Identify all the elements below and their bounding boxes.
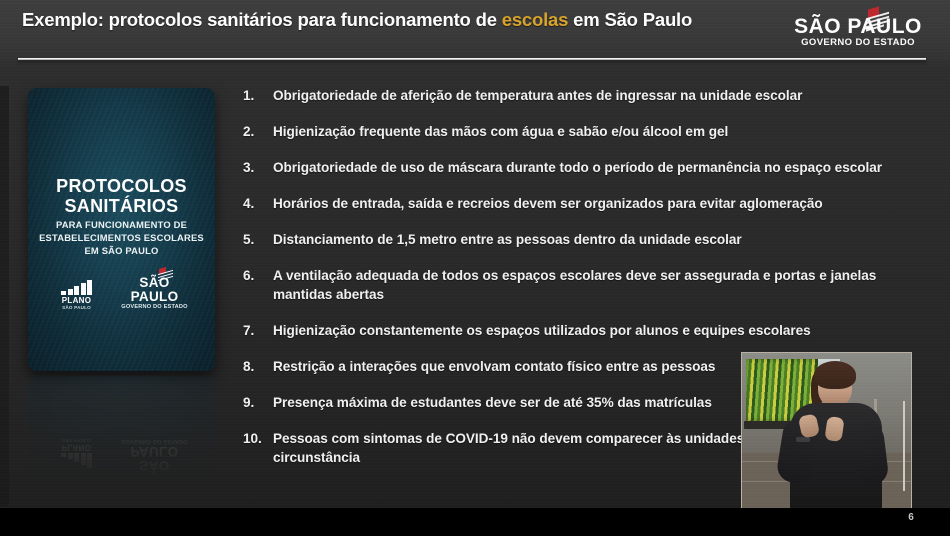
cover-gov-logo-subtitle: GOVERNO DO ESTADO <box>117 304 193 310</box>
page-title: Exemplo: protocolos sanitários para func… <box>22 8 712 31</box>
bar-chart-icon <box>51 453 103 468</box>
cover-title-line-2: SANITÁRIOS <box>28 196 215 216</box>
list-item-number: 9. <box>243 393 273 412</box>
list-item-number: 10. <box>243 429 273 448</box>
cover-reflection-logos: PLANO SÃO PAULO SÃO PAULO GOVERNO DO EST… <box>28 438 215 472</box>
slide-screenshot: Exemplo: protocolos sanitários para func… <box>0 0 950 536</box>
reflection-plano-name: PLANO <box>51 443 103 452</box>
interpreter-hair <box>814 361 856 389</box>
sign-language-interpreter-video[interactable] <box>741 352 912 511</box>
cover-government-logo: SÃO PAULO GOVERNO DO ESTADO <box>117 276 193 310</box>
logo-name: SÃO PAULO <box>788 16 928 37</box>
list-item-text: Obrigatoriedade de uso de máscara durant… <box>273 158 909 177</box>
list-item: 2. Higienização frequente das mãos com á… <box>243 122 913 141</box>
list-item: 1. Obrigatoriedade de aferição de temper… <box>243 86 913 105</box>
list-item-number: 5. <box>243 230 273 249</box>
header-divider <box>18 58 926 60</box>
page-title-part-1: Exemplo: protocolos sanitários para func… <box>22 9 502 30</box>
cover-gov-logo-name: SÃO PAULO <box>117 276 193 304</box>
list-item-number: 1. <box>243 86 273 105</box>
list-item-number: 4. <box>243 194 273 213</box>
list-item-text: Higienização frequente das mãos com água… <box>273 122 909 141</box>
cover-card: PROTOCOLOS SANITÁRIOS PARA FUNCIONAMENTO… <box>28 88 215 371</box>
plano-logo-subtitle: SÃO PAULO <box>51 305 103 310</box>
list-item-text: A ventilação adequada de todos os espaço… <box>273 266 909 304</box>
page-title-highlight: escolas <box>502 9 569 30</box>
page-title-part-2: em São Paulo <box>568 9 692 30</box>
list-item: 6. A ventilação adequada de todos os esp… <box>243 266 913 304</box>
rail-decor <box>903 401 905 491</box>
bar-chart-icon <box>51 280 103 295</box>
cover-subtitle: PARA FUNCIONAMENTO DE ESTABELECIMENTOS E… <box>34 218 209 257</box>
list-item-number: 3. <box>243 158 273 177</box>
list-item: 7. Higienização constantemente os espaço… <box>243 321 913 340</box>
list-item: 3. Obrigatoriedade de uso de máscara dur… <box>243 158 913 177</box>
list-item-text: Obrigatoriedade de aferição de temperatu… <box>273 86 909 105</box>
interpreter-wristwatch <box>796 437 810 442</box>
slide-header: Exemplo: protocolos sanitários para func… <box>0 0 950 60</box>
list-item: 4. Horários de entrada, saída e recreios… <box>243 194 913 213</box>
cover-title: PROTOCOLOS SANITÁRIOS <box>28 176 215 216</box>
bottom-bar <box>0 508 950 536</box>
reflection-gov-name: SÃO PAULO <box>117 444 193 472</box>
protocol-document-cover: PROTOCOLOS SANITÁRIOS PARA FUNCIONAMENTO… <box>28 88 215 371</box>
sao-paulo-flag-icon <box>157 268 174 282</box>
list-item-text: Higienização constantemente os espaços u… <box>273 321 909 340</box>
list-item-number: 8. <box>243 357 273 376</box>
reflection-plano-logo: PLANO SÃO PAULO <box>51 438 103 468</box>
plano-sao-paulo-logo: PLANO SÃO PAULO <box>51 280 103 310</box>
slide-canvas: Exemplo: protocolos sanitários para func… <box>0 0 950 508</box>
plano-logo-name: PLANO <box>51 296 103 305</box>
cover-title-line-1: PROTOCOLOS <box>28 176 215 196</box>
left-edge-shadow <box>0 86 9 506</box>
list-item-number: 7. <box>243 321 273 340</box>
sao-paulo-government-logo: SÃO PAULO GOVERNO DO ESTADO <box>788 8 928 52</box>
list-item: 5. Distanciamento de 1,5 metro entre as … <box>243 230 913 249</box>
list-item-text: Distanciamento de 1,5 metro entre as pes… <box>273 230 909 249</box>
reflection-government-logo: SÃO PAULO GOVERNO DO ESTADO <box>117 438 193 472</box>
reflection-plano-subtitle: SÃO PAULO <box>51 438 103 443</box>
list-item-number: 2. <box>243 122 273 141</box>
cover-subtitle-line-2: ESTABELECIMENTOS ESCOLARES <box>34 231 209 244</box>
reflection-gov-subtitle: GOVERNO DO ESTADO <box>117 438 193 444</box>
cover-subtitle-line-1: PARA FUNCIONAMENTO DE <box>34 218 209 231</box>
list-item-number: 6. <box>243 266 273 285</box>
page-number: 6 <box>900 512 922 523</box>
cover-logo-row: PLANO SÃO PAULO SÃO PAULO GOVERNO DO EST… <box>28 276 215 310</box>
logo-subtitle: GOVERNO DO ESTADO <box>788 37 928 48</box>
cover-subtitle-line-3: EM SÃO PAULO <box>34 244 209 257</box>
list-item-text: Horários de entrada, saída e recreios de… <box>273 194 909 213</box>
cover-reflection: PLANO SÃO PAULO SÃO PAULO GOVERNO DO EST… <box>28 376 215 494</box>
